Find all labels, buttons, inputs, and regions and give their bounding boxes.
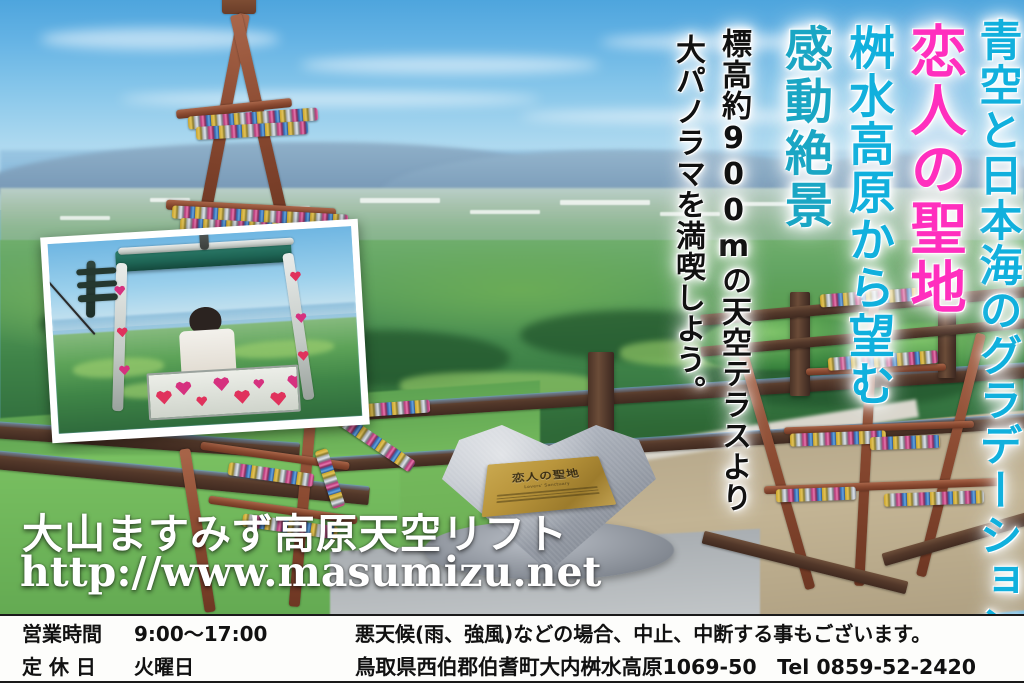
heart-icon xyxy=(156,390,173,405)
website-url-link[interactable]: http://www.masumizu.net xyxy=(20,548,601,596)
chairlift-hanger-arm xyxy=(199,227,209,250)
hours-label: 営業時間 xyxy=(22,618,134,647)
footer-row-hours: 営業時間9:00〜17:00 xyxy=(22,618,345,647)
heart-icon xyxy=(234,389,251,404)
footer-address-phone: 鳥取県西伯郡伯耆町大内桝水高原1069-50 Tel 0859-52-2420 xyxy=(355,650,1024,680)
cloud-shape xyxy=(120,92,540,106)
footer-weather-notice: 悪天候(雨、強風)などの場合、中止、中断する事もございます。 xyxy=(355,618,1024,647)
footer-hours-block: 営業時間9:00〜17:00 定 休 日火曜日 xyxy=(0,618,345,680)
heart-icon xyxy=(253,378,265,389)
headline-aozora: 青空と日本海のグラデーション xyxy=(974,18,1018,614)
subhead-panorama: 大パノラマを満喫しよう。 xyxy=(671,34,702,406)
heart-icon xyxy=(175,381,192,396)
heart-icon xyxy=(270,391,287,406)
town-speck xyxy=(470,210,540,214)
chairlift-seat-back xyxy=(147,364,302,420)
headline-kandou: 感動絶景 xyxy=(779,24,828,232)
town-speck xyxy=(560,200,650,205)
padlock-cluster xyxy=(870,435,940,450)
footer-notice-block: 悪天候(雨、強風)などの場合、中止、中断する事もございます。 鳥取県西伯郡伯耆町… xyxy=(345,618,1024,680)
town-speck xyxy=(360,198,440,203)
inset-photo-image xyxy=(48,226,363,434)
headline-koibito: 恋人の聖地 xyxy=(905,22,962,317)
plaque-title: 恋人の聖地 xyxy=(512,465,581,485)
poster-root: 恋人の聖地 Lovers' Sanctuary xyxy=(0,0,1024,683)
padlock-cluster xyxy=(776,487,856,503)
closed-day-value: 火曜日 xyxy=(134,655,194,679)
hero-photo: 恋人の聖地 Lovers' Sanctuary xyxy=(0,0,1024,614)
inset-polaroid-photo xyxy=(40,219,370,443)
town-speck xyxy=(60,216,110,220)
tower-cap xyxy=(222,0,256,14)
heart-decorations xyxy=(149,367,299,419)
closed-day-label: 定 休 日 xyxy=(22,651,134,680)
subhead-elevation: 標高約900mの天空テラスより xyxy=(717,28,748,513)
footer-row-closed: 定 休 日火曜日 xyxy=(22,651,345,680)
headline-masumizu: 桝水高原から望む xyxy=(845,24,892,408)
info-footer: 営業時間9:00〜17:00 定 休 日火曜日 悪天候(雨、強風)などの場合、中… xyxy=(0,614,1024,683)
cloud-shape xyxy=(300,56,600,74)
heart-icon xyxy=(196,396,208,407)
heart-icon xyxy=(213,377,230,392)
hours-value: 9:00〜17:00 xyxy=(134,622,267,646)
